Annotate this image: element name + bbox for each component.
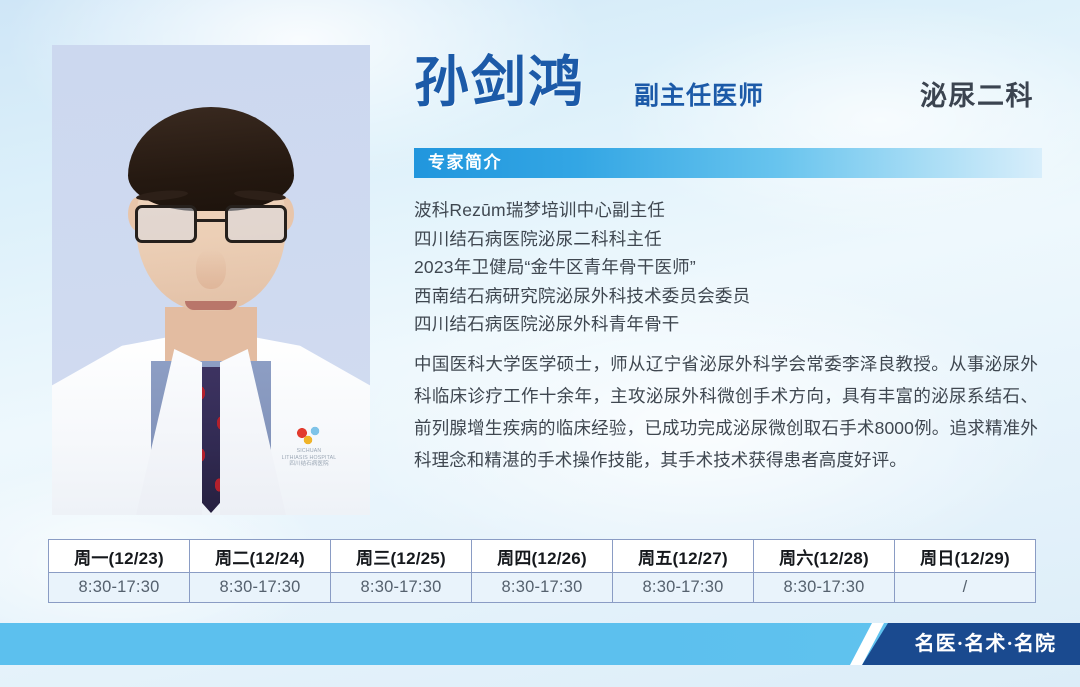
credential-item: 2023年卫健局“金牛区青年骨干医师”	[414, 253, 1042, 282]
clinic-schedule-table: 周一(12/23) 周二(12/24) 周三(12/25) 周四(12/26) …	[48, 539, 1036, 603]
nose	[196, 249, 226, 289]
lens-right	[225, 205, 287, 243]
table-header-row: 周一(12/23) 周二(12/24) 周三(12/25) 周四(12/26) …	[49, 540, 1036, 573]
profile-section-header: 专家简介	[414, 148, 1042, 178]
mouth	[185, 301, 237, 310]
schedule-hours-cell: /	[895, 573, 1036, 603]
doctor-profile-card: SICHUAN LITHIASIS HOSPITAL 四川结石病医院 孙剑鸿 副…	[0, 0, 1080, 687]
biography-text: 中国医科大学医学硕士，师从辽宁省泌尿外科学会常委李泽良教授。从事泌尿外科临床诊疗…	[414, 348, 1038, 476]
footer-slogan: 名医·名术·名院	[915, 623, 1056, 665]
profile-section-label: 专家简介	[428, 148, 502, 178]
badge-line-cn: 四川结石病医院	[272, 461, 346, 468]
schedule-day-header: 周一(12/23)	[49, 540, 190, 573]
schedule-day-header: 周四(12/26)	[472, 540, 613, 573]
doctor-portrait-photo: SICHUAN LITHIASIS HOSPITAL 四川结石病医院	[52, 45, 370, 515]
schedule-hours-cell: 8:30-17:30	[190, 573, 331, 603]
department-name: 泌尿二科	[920, 74, 1034, 113]
schedule-hours-cell: 8:30-17:30	[49, 573, 190, 603]
credential-item: 四川结石病医院泌尿外科青年骨干	[414, 310, 1042, 339]
doctor-header: 孙剑鸿 副主任医师 泌尿二科	[412, 48, 1052, 120]
table-row: 8:30-17:30 8:30-17:30 8:30-17:30 8:30-17…	[49, 573, 1036, 603]
schedule-hours-cell: 8:30-17:30	[754, 573, 895, 603]
doctor-title: 副主任医师	[634, 76, 764, 112]
doctor-name: 孙剑鸿	[414, 48, 585, 116]
glasses-bridge	[197, 219, 225, 222]
footer-banner: 名医·名术·名院	[0, 623, 1080, 665]
schedule-hours-cell: 8:30-17:30	[472, 573, 613, 603]
credential-item: 四川结石病医院泌尿二科科主任	[414, 225, 1042, 254]
hospital-logo-icon	[294, 423, 324, 445]
schedule-day-header: 周二(12/24)	[190, 540, 331, 573]
schedule-day-header: 周三(12/25)	[331, 540, 472, 573]
credentials-list: 波科Rezūm瑞梦培训中心副主任 四川结石病医院泌尿二科科主任 2023年卫健局…	[414, 196, 1042, 339]
eyeglasses-icon	[135, 205, 287, 245]
hospital-badge: SICHUAN LITHIASIS HOSPITAL 四川结石病医院	[272, 423, 346, 479]
lens-left	[135, 205, 197, 243]
credential-item: 波科Rezūm瑞梦培训中心副主任	[414, 196, 1042, 225]
schedule-hours-cell: 8:30-17:30	[331, 573, 472, 603]
schedule-day-header: 周六(12/28)	[754, 540, 895, 573]
schedule-hours-cell: 8:30-17:30	[613, 573, 754, 603]
credential-item: 西南结石病研究院泌尿外科技术委员会委员	[414, 282, 1042, 311]
schedule-day-header: 周日(12/29)	[895, 540, 1036, 573]
schedule-day-header: 周五(12/27)	[613, 540, 754, 573]
